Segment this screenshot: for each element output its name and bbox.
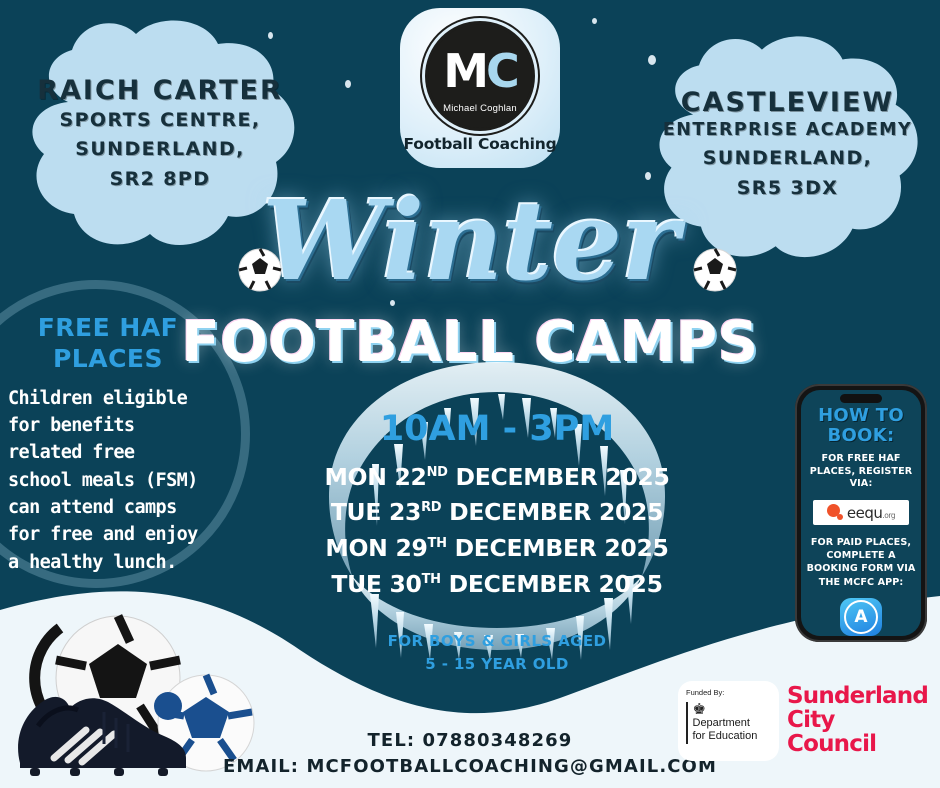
dfe-text-group: ♚ Department for Education [693,702,758,742]
haf-title-line2: PLACES [8,343,208,374]
royal-crest-icon: ♚ [693,702,758,717]
schedule-date-row: TUE 30TH DECEMBER 2025 [312,567,682,603]
poster-canvas: RAICH CARTER SPORTS CENTRE, SUNDERLAND, … [0,0,940,788]
booking-title: HOW TO BOOK: [818,406,904,446]
venue-name: CASTLEVIEW [681,88,894,118]
schedule-date-row: MON 29TH DECEMBER 2025 [312,531,682,567]
age-range-line2: 5 - 15 YEAR OLD [312,653,682,676]
venue-name: RAICH CARTER [37,76,282,106]
date-day: TUE [331,570,381,598]
date-number: 29 [395,534,427,562]
snow-dot [345,80,351,88]
dfe-line1: Department [693,717,758,730]
free-haf-block: FREE HAF PLACES Children eligible for be… [8,312,208,576]
date-ordinal: TH [428,536,447,551]
date-ordinal: ND [427,465,448,480]
date-ordinal: RD [421,500,441,515]
age-range: FOR BOYS & GIRLS AGED 5 - 15 YEAR OLD [312,630,682,675]
haf-body-text: Children eligible for benefits related f… [8,385,208,577]
date-day: TUE [331,498,381,526]
venue-line: SUNDERLAND, [703,144,873,173]
brand-logo: MC Michael Coghlan Football Coaching [400,8,560,168]
dfe-logo-row: ♚ Department for Education [686,702,771,744]
date-month-year: DECEMBER 2025 [455,534,669,562]
logo-ring-icon: MC Michael Coghlan [428,24,532,128]
booking-title-line2: BOOK: [818,426,904,446]
sunderland-council-logo: Sunderland City Council [787,685,928,756]
council-line2: City Council [787,709,928,756]
logo-monogram-c: C [486,44,517,98]
dfe-line2: for Education [693,730,758,743]
snow-dot [592,18,597,24]
eequ-dots-icon [827,504,844,521]
date-month-year: DECEMBER 2025 [449,498,663,526]
schedule-date-row: TUE 23RD DECEMBER 2025 [312,495,682,531]
venue-line: SUNDERLAND, [75,135,245,164]
venue-line: SPORTS CENTRE, [59,106,260,135]
schedule-block: 10AM - 3PM MON 22ND DECEMBER 2025 TUE 23… [312,410,682,675]
logo-tagline: Football Coaching [404,135,557,153]
football-icon [238,248,282,292]
booking-paid-instruction: FOR PAID PLACES, COMPLETE A BOOKING FORM… [801,536,921,590]
booking-free-instruction: FOR FREE HAF PLACES, REGISTER VIA: [801,453,921,492]
date-ordinal: TH [422,572,441,587]
phone-mockup: HOW TO BOOK: FOR FREE HAF PLACES, REGIST… [795,384,927,642]
football-icon [693,248,737,292]
dfe-logo: Funded By: ♚ Department for Education [678,681,779,761]
eequ-wordmark: eequ.org [847,504,895,522]
phone-notch-icon [840,394,882,403]
date-number: 30 [390,570,422,598]
dfe-divider [686,702,688,744]
date-number: 23 [389,498,421,526]
venue-line: ENTERPRISE ACADEMY [663,117,912,144]
logo-person-name: Michael Coghlan [428,103,532,114]
app-store-glyph: A [844,600,878,634]
logo-monogram: MC [443,48,517,94]
date-day: MON [325,534,387,562]
eequ-word: eequ [847,504,883,522]
logo-monogram-m: M [443,44,486,98]
date-month-year: DECEMBER 2025 [456,463,670,491]
phone-screen: HOW TO BOOK: FOR FREE HAF PLACES, REGIST… [801,390,921,636]
booking-title-line1: HOW TO [818,406,904,426]
haf-title: FREE HAF PLACES [8,312,208,375]
council-line1: Sunderland [787,685,928,709]
date-month-year: DECEMBER 2025 [449,570,663,598]
funded-by-label: Funded By: [686,688,771,697]
schedule-date-row: MON 22ND DECEMBER 2025 [312,460,682,496]
page-title-script: Winter [0,186,940,296]
haf-title-line1: FREE HAF [8,312,208,343]
funders-block: Funded By: ♚ Department for Education Su… [678,680,928,762]
schedule-time: 10AM - 3PM [312,410,682,449]
date-day: MON [324,463,386,491]
eequ-logo[interactable]: eequ.org [813,500,909,524]
schedule-date-list: MON 22ND DECEMBER 2025 TUE 23RD DECEMBER… [312,460,682,603]
eequ-suffix: .org [882,511,895,520]
app-store-icon[interactable]: A [840,598,882,636]
age-range-line1: FOR BOYS & GIRLS AGED [312,630,682,653]
date-number: 22 [394,463,426,491]
